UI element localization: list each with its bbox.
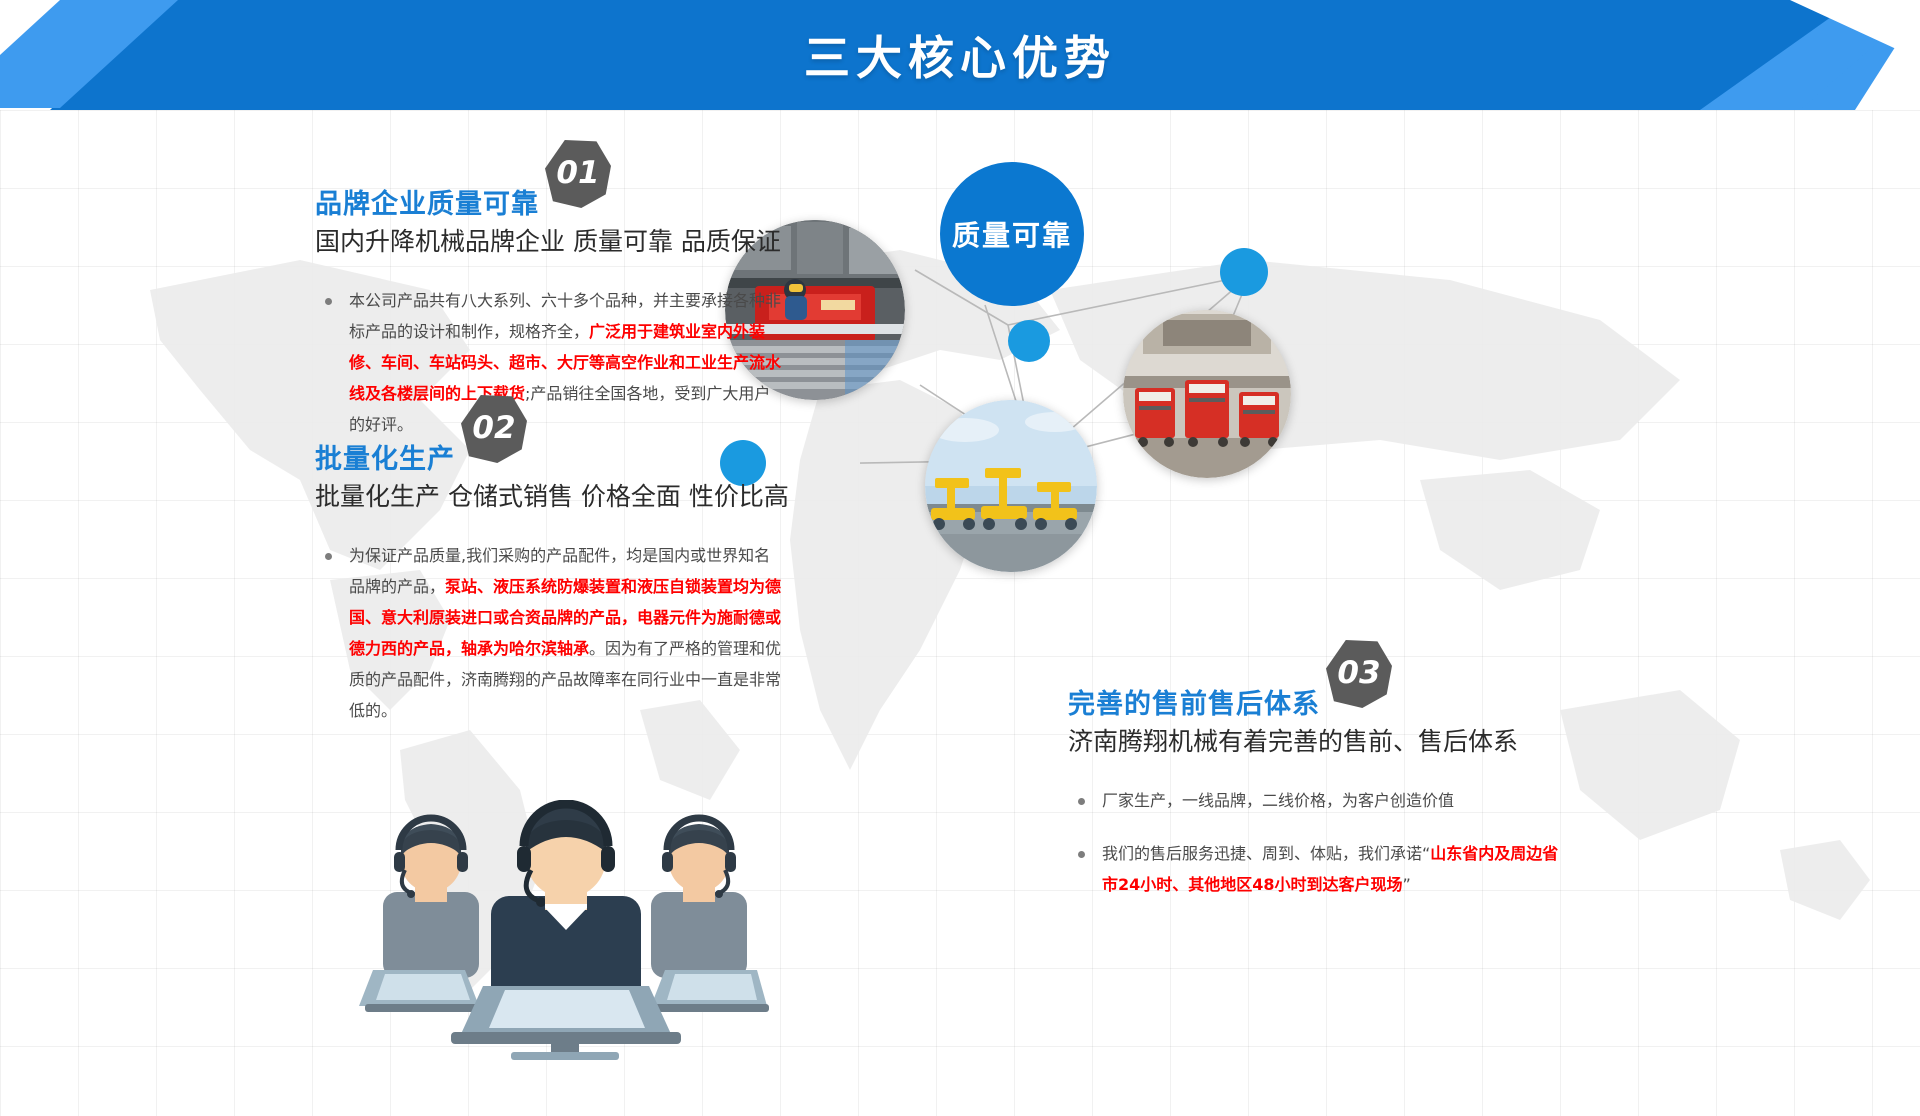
feature-number-badge: 01 <box>545 140 611 208</box>
page-title: 三大核心优势 <box>0 0 1920 110</box>
laptop-right <box>647 970 769 1012</box>
feature-number-badge: 03 <box>1326 640 1392 708</box>
feature-bullet-list: 为保证产品质量,我们采购的产品配件，均是国内或世界知名品牌的产品，泵站、液压系统… <box>315 540 785 726</box>
slide-canvas: 三大核心优势 质量可靠 <box>0 0 1920 1116</box>
list-item: 为保证产品质量,我们采购的产品配件，均是国内或世界知名品牌的产品，泵站、液压系统… <box>315 540 785 726</box>
feature-number-badge: 02 <box>461 395 527 463</box>
page-banner: 三大核心优势 <box>0 0 1920 110</box>
feature-subtitle: 国内升降机械品牌企业 质量可靠 品质保证 <box>315 226 785 259</box>
feature-title: 批量化生产 <box>315 445 455 475</box>
body-text: 我们的售后服务迅捷、周到、体贴，我们承诺“ <box>1102 844 1430 863</box>
node-dot-top-right <box>1220 248 1268 296</box>
feature-number: 02 <box>461 395 527 463</box>
feature-title: 品牌企业质量可靠 <box>315 190 539 220</box>
call-center-agents-illustration <box>355 800 775 1060</box>
body-text: 厂家生产，一线品牌，二线价格，为客户创造价值 <box>1102 791 1454 810</box>
agent-center <box>491 804 641 1014</box>
desk-and-laptop-center <box>451 986 681 1060</box>
list-item: 厂家生产，一线品牌，二线价格，为客户创造价值 <box>1068 785 1568 816</box>
feature-block-03: 完善的售前售后体系 03 济南腾翔机械有着完善的售前、售后体系 厂家生产，一线品… <box>1068 640 1568 922</box>
feature-number: 03 <box>1326 640 1392 708</box>
agent-left <box>383 818 479 978</box>
agent-right <box>651 818 747 978</box>
body-text: ” <box>1403 875 1411 894</box>
feature-subtitle: 济南腾翔机械有着完善的售前、售后体系 <box>1068 726 1568 759</box>
feature-heading-row: 完善的售前售后体系 03 <box>1068 640 1568 720</box>
list-item: 我们的售后服务迅捷、周到、体贴，我们承诺“山东省内及周边省市24小时、其他地区4… <box>1068 838 1568 900</box>
feature-heading-row: 批量化生产 02 <box>315 395 785 475</box>
feature-number: 01 <box>545 140 611 208</box>
feature-title: 完善的售前售后体系 <box>1068 690 1320 720</box>
feature-bullet-list: 厂家生产，一线品牌，二线价格，为客户创造价值 我们的售后服务迅捷、周到、体贴，我… <box>1068 785 1568 900</box>
hub-node-quality: 质量可靠 <box>940 162 1084 306</box>
aerial-work-platform-photo <box>925 400 1097 572</box>
node-dot-center <box>1008 320 1050 362</box>
feature-heading-row: 品牌企业质量可靠 01 <box>315 140 785 220</box>
feature-subtitle: 批量化生产 仓储式销售 价格全面 性价比高 <box>315 481 785 514</box>
red-lift-platform-photo <box>1123 310 1291 478</box>
network-diagram: 质量可靠 <box>860 150 1680 620</box>
feature-block-02: 批量化生产 02 批量化生产 仓储式销售 价格全面 性价比高 为保证产品质量,我… <box>315 395 785 748</box>
hub-node-label: 质量可靠 <box>952 214 1072 254</box>
